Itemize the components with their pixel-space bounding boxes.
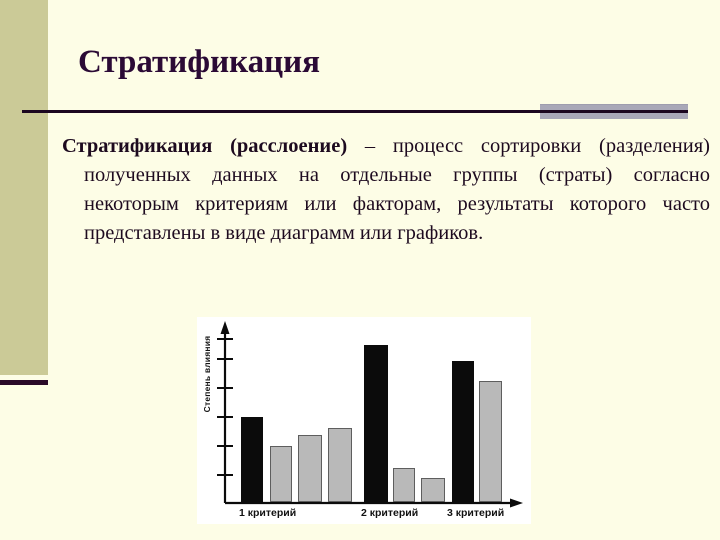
bar-g2-b3 bbox=[421, 478, 445, 502]
bar-g1-b3 bbox=[298, 435, 322, 502]
x-tick-label-2: 2 критерий bbox=[361, 507, 418, 519]
y-axis-title: Степень влияния bbox=[202, 314, 212, 434]
bar-g1-b2 bbox=[270, 446, 292, 502]
body-paragraph-line: Стратификация (расслоение) – процесс сор… bbox=[62, 132, 710, 248]
x-tick-label-1: 1 критерий bbox=[239, 507, 296, 519]
x-tick-label-3: 3 критерий bbox=[447, 507, 504, 519]
body-paragraph: Стратификация (расслоение) – процесс сор… bbox=[62, 132, 710, 248]
bar-g1-b4 bbox=[328, 428, 352, 502]
slide-canvas: Стратификация Стратификация (расслоение)… bbox=[0, 0, 720, 540]
x-axis-arrowhead bbox=[510, 499, 523, 508]
body-lead-term: Стратификация (расслоение) bbox=[62, 135, 347, 157]
bar-g2-b2 bbox=[393, 468, 415, 502]
left-accent-rule bbox=[0, 380, 48, 385]
page-title: Стратификация bbox=[78, 44, 320, 81]
title-rule bbox=[22, 110, 688, 113]
bar-g3-b2 bbox=[479, 381, 502, 502]
stratification-bar-chart: Степень влияния 1 критерий 2 критерий 3 … bbox=[197, 317, 531, 524]
y-axis-arrowhead bbox=[221, 321, 230, 334]
bar-g1-b1 bbox=[241, 417, 263, 502]
bar-g3-b1 bbox=[452, 361, 474, 502]
bar-g2-b1 bbox=[364, 345, 388, 502]
left-accent-band bbox=[0, 0, 48, 375]
